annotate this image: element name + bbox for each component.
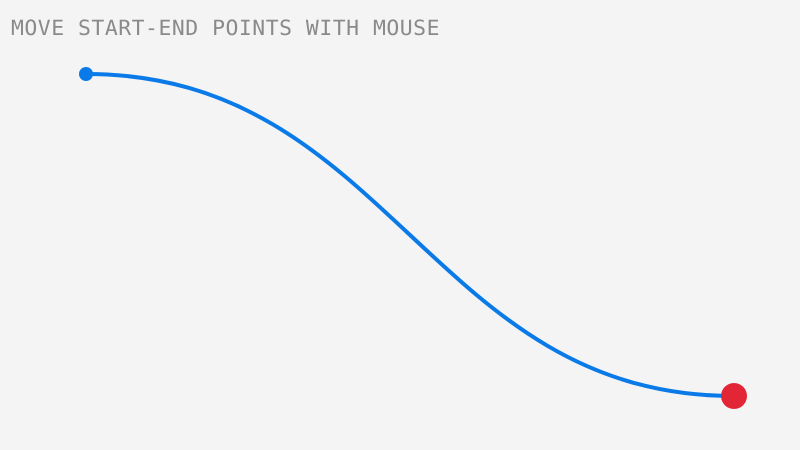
canvas-stage[interactable]: MOVE START-END POINTS WITH MOUSE xyxy=(0,0,800,450)
start-point-handle[interactable] xyxy=(79,67,93,81)
end-point-handle[interactable] xyxy=(721,383,747,409)
bezier-curve-canvas xyxy=(0,0,800,450)
bezier-curve-path xyxy=(86,74,734,396)
